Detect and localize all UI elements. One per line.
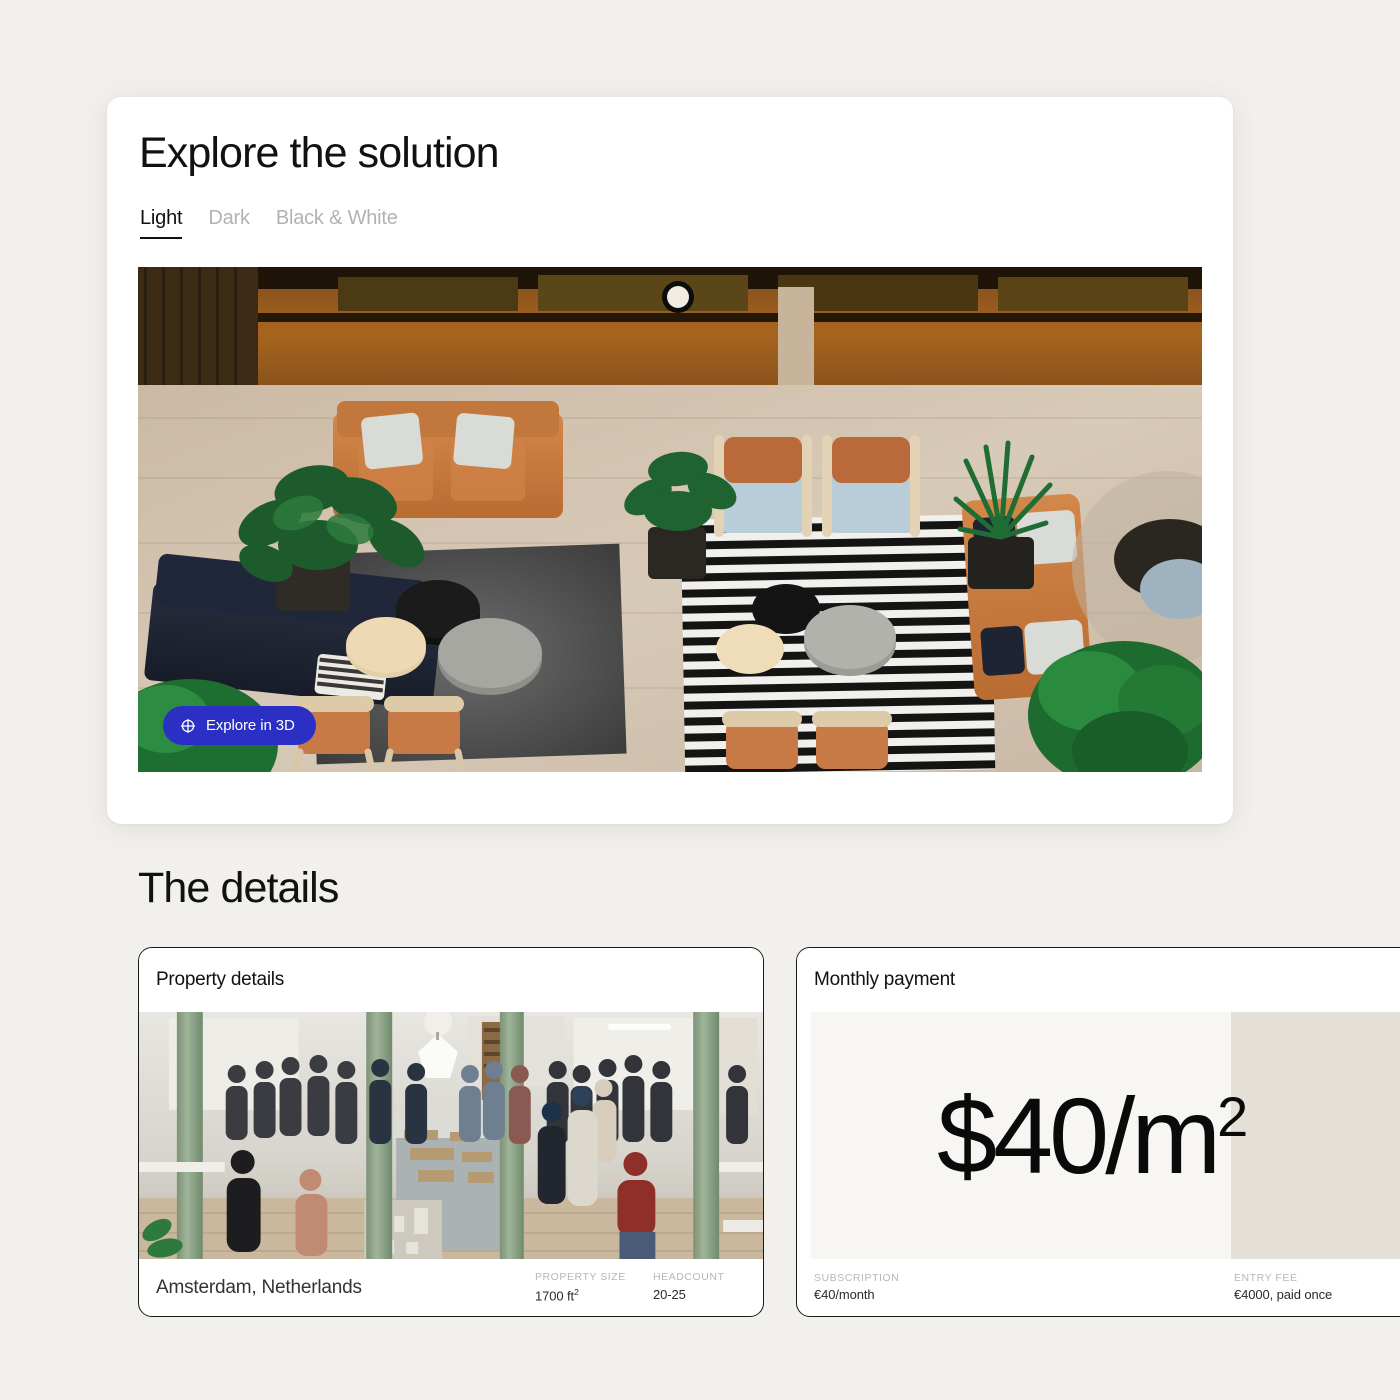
property-card-title: Property details [156,969,284,991]
property-details-card: Property details [138,947,764,1317]
explore-in-3d-button[interactable]: Explore in 3D [163,706,316,745]
property-location: Amsterdam, Netherlands [156,1277,535,1299]
hero-image: Explore in 3D [138,267,1202,772]
property-card-footer: Amsterdam, Netherlands PROPERTY SIZE 170… [139,1259,763,1317]
metric-property-size-label: PROPERTY SIZE [535,1270,631,1286]
metric-property-size-value: 1700 ft2 [535,1286,631,1306]
metric-entry-fee: ENTRY FEE €4000, paid once [1234,1271,1332,1306]
metric-headcount-value: 20-25 [653,1286,749,1305]
page-root: Explore the solution Light Dark Black & … [0,0,1400,1400]
crosshair-globe-icon [180,718,196,734]
page-title: Explore the solution [139,130,499,177]
metric-entry-fee-value: €4000, paid once [1234,1286,1332,1305]
property-metrics: PROPERTY SIZE 1700 ft2 HEADCOUNT 20-25 [535,1270,749,1306]
hero-card: Explore the solution Light Dark Black & … [107,97,1233,824]
property-card-header: Property details [139,948,763,1012]
metric-subscription: SUBSCRIPTION €40/month [814,1271,1234,1306]
tab-black-and-white[interactable]: Black & White [276,207,398,239]
metric-headcount-label: HEADCOUNT [653,1270,749,1286]
price-panel: $40/m2 [811,1012,1400,1259]
tab-light[interactable]: Light [140,207,182,239]
tab-dark[interactable]: Dark [208,207,249,239]
explore-in-3d-label: Explore in 3D [206,717,295,734]
property-photo [139,1012,763,1259]
monthly-payment-card: Monthly payment $40/m2 SUBSCRIPTION €40/… [796,947,1400,1317]
hero-image-illustration [138,267,1202,772]
metric-property-size: PROPERTY SIZE 1700 ft2 [535,1270,631,1306]
metric-subscription-value: €40/month [814,1286,1234,1305]
section-title-details: The details [138,864,338,913]
metric-headcount: HEADCOUNT 20-25 [653,1270,749,1306]
payment-card-footer: SUBSCRIPTION €40/month ENTRY FEE €4000, … [797,1259,1400,1317]
metric-subscription-label: SUBSCRIPTION [814,1271,1234,1287]
payment-card-title: Monthly payment [814,969,955,991]
property-photo-illustration [139,1012,763,1259]
metric-entry-fee-label: ENTRY FEE [1234,1271,1332,1287]
price-display: $40/m2 [811,1082,1400,1190]
payment-card-header: Monthly payment [797,948,1400,1012]
theme-tabs: Light Dark Black & White [140,207,398,239]
